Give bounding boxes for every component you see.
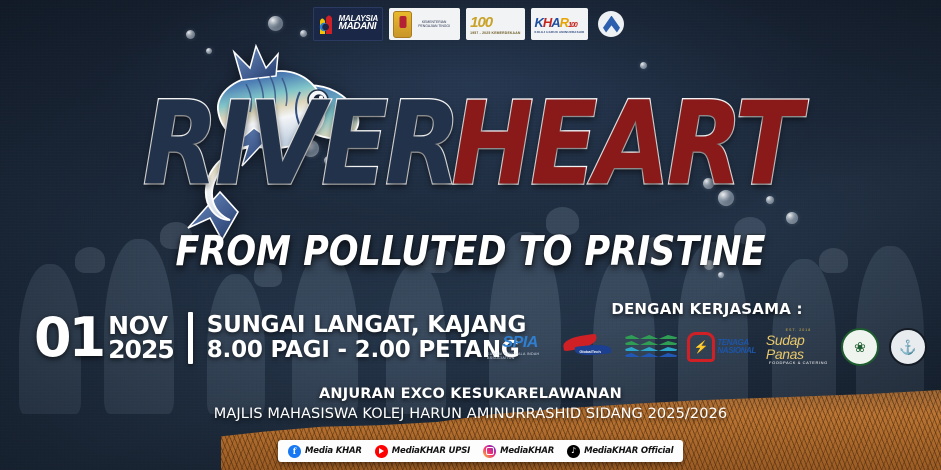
organiser-line1: ANJURAN EXCO KESUKARELAWANAN <box>0 386 941 402</box>
green-circle-logo: ❀ <box>841 325 879 369</box>
details-divider <box>188 312 193 364</box>
khar-logo: KHAR100 KOLEJ HARUN AMINURRASHID <box>531 8 589 40</box>
youtube-icon[interactable] <box>375 445 388 458</box>
khar-caption: KOLEJ HARUN AMINURRASHID <box>535 30 585 34</box>
spia-caption: SUNGAI PENCHALA INDAH ASSOCIATION <box>487 352 553 360</box>
top-logo-strip: MALAYSIA MADANI KEMENTERIAN PENGAJIAN TI… <box>0 7 941 41</box>
social-item-tiktok[interactable]: ♪ MediaKHAR Official <box>567 445 673 458</box>
social-item-youtube[interactable]: MediaKHAR UPSI <box>375 445 470 458</box>
tnb-bolt-icon: ⚡ <box>687 332 715 362</box>
merdeka-100-logo: 100 1957 - 2025 KEMERDEKAAN <box>466 8 524 40</box>
spia-wordmark: SPIA <box>502 334 537 352</box>
social-item-facebook[interactable]: f Media KHAR <box>288 445 362 458</box>
poster-title: RIVERHEART <box>0 96 941 192</box>
spia-logo: SPIA SUNGAI PENCHALA INDAH ASSOCIATION <box>487 325 553 369</box>
madani-symbol-icon <box>318 12 336 36</box>
youtube-handle: MediaKHAR UPSI <box>392 446 470 456</box>
organiser-block: ANJURAN EXCO KESUKARELAWANAN MAJLIS MAHA… <box>0 386 941 422</box>
facebook-icon[interactable]: f <box>288 445 301 458</box>
ministry-caption: KEMENTERIAN PENGAJIAN TINGGI <box>412 20 456 29</box>
facebook-handle: Media KHAR <box>305 446 362 456</box>
event-time: 8.00 PAGI - 2.00 PETANG <box>207 338 526 363</box>
upsi-icon <box>598 11 624 37</box>
event-venue-time: SUNGAI LANGAT, KAJANG 8.00 PAGI - 2.00 P… <box>207 313 526 363</box>
dark-circle-logo: ⚓ <box>889 325 927 369</box>
tiktok-handle: MediaKHAR Official <box>584 446 673 456</box>
waves-logo <box>625 325 677 369</box>
tnb-line2: NASIONAL <box>717 347 756 355</box>
poster-subtitle: FROM POLLUTED TO PRISTINE <box>0 228 941 275</box>
merdeka-caption: 1957 - 2025 KEMERDEKAAN <box>470 31 520 35</box>
swoosh-logo: GlobalTech <box>563 325 615 369</box>
emblem-icon: ⚓ <box>899 339 916 356</box>
khar-wordmark: KHAR100 KOLEJ HARUN AMINURRASHID <box>535 15 585 34</box>
jata-negara-icon <box>393 11 412 38</box>
sudap-title: Sudap Panas <box>766 333 831 361</box>
event-poster: MALAYSIA MADANI KEMENTERIAN PENGAJIAN TI… <box>0 0 941 470</box>
sudap-panas-logo: EST. 2018 Sudap Panas FOODPACK & CATERIN… <box>766 325 831 369</box>
bubble <box>786 212 798 224</box>
malaysia-madani-logo: MALAYSIA MADANI <box>313 7 384 41</box>
event-venue: SUNGAI LANGAT, KAJANG <box>207 313 526 338</box>
merdeka-number: 100 1957 - 2025 KEMERDEKAAN <box>470 14 520 35</box>
instagram-handle: MediaKHAR <box>500 446 554 456</box>
madani-line2: MADANI <box>339 23 379 32</box>
bubble <box>640 62 647 69</box>
title-river: RIVER <box>143 86 458 201</box>
tenaga-nasional-logo: ⚡ TENAGA NASIONAL <box>687 325 756 369</box>
leaf-icon: ❀ <box>854 339 866 356</box>
organiser-line2: MAJLIS MAHASISWA KOLEJ HARUN AMINURRASHI… <box>0 406 941 422</box>
upsi-emblem-logo <box>594 8 628 40</box>
partners-label: DENGAN KERJASAMA : <box>487 300 927 318</box>
instagram-icon[interactable] <box>483 445 496 458</box>
event-day: 01 <box>34 314 103 363</box>
partner-logo-row: SPIA SUNGAI PENCHALA INDAH ASSOCIATION G… <box>487 324 927 370</box>
event-month-year: NOV 2025 <box>108 314 174 362</box>
title-heart: HEART <box>451 86 798 201</box>
tiktok-icon[interactable]: ♪ <box>567 445 580 458</box>
social-media-bar: f Media KHAR MediaKHAR UPSI MediaKHAR ♪ … <box>278 440 683 462</box>
jata-negara-certificate-logo: KEMENTERIAN PENGAJIAN TINGGI <box>389 8 460 40</box>
partners-section: DENGAN KERJASAMA : SPIA SUNGAI PENCHALA … <box>487 300 927 370</box>
sudap-sub: FOODPACK & CATERING <box>769 361 828 365</box>
swoosh-wordmark: GlobalTech <box>579 349 600 354</box>
social-item-instagram[interactable]: MediaKHAR <box>483 445 554 458</box>
waves-icon <box>625 333 677 361</box>
event-details: 01 NOV 2025 SUNGAI LANGAT, KAJANG 8.00 P… <box>34 312 526 364</box>
event-year: 2025 <box>108 338 174 362</box>
